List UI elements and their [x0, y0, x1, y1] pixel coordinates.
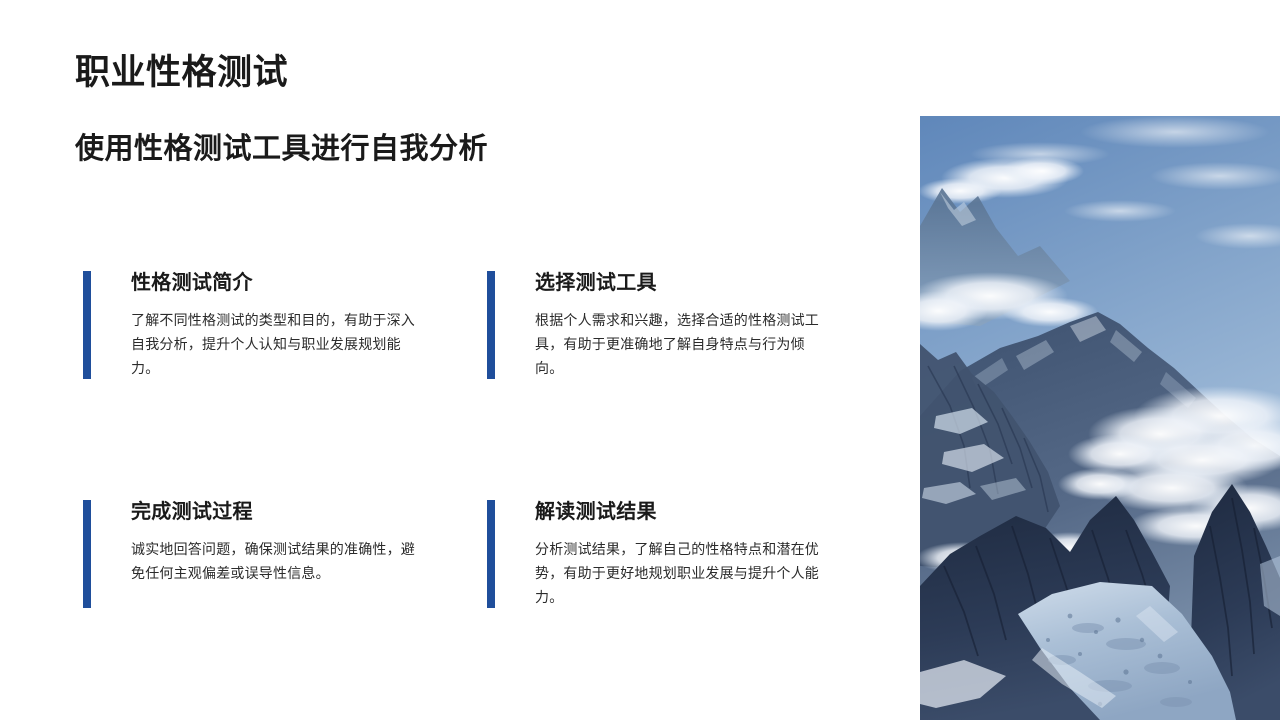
page-title: 职业性格测试 [75, 52, 288, 94]
content-card: 性格测试简介 了解不同性格测试的类型和目的，有助于深入自我分析，提升个人认知与职… [83, 271, 423, 380]
card-heading: 完成测试过程 [131, 500, 423, 524]
card-heading: 解读测试结果 [535, 500, 827, 524]
card-text: 分析测试结果，了解自己的性格特点和潜在优势，有助于更好地规划职业发展与提升个人能… [535, 537, 827, 609]
card-body: 完成测试过程 诚实地回答问题，确保测试结果的准确性，避免任何主观偏差或误导性信息… [131, 500, 423, 585]
card-body: 选择测试工具 根据个人需求和兴趣，选择合适的性格测试工具，有助于更准确地了解自身… [535, 271, 827, 380]
content-card: 完成测试过程 诚实地回答问题，确保测试结果的准确性，避免任何主观偏差或误导性信息… [83, 500, 423, 585]
accent-bar-icon [83, 271, 91, 379]
card-text: 根据个人需求和兴趣，选择合适的性格测试工具，有助于更准确地了解自身特点与行为倾向… [535, 308, 827, 380]
snow-mountain-photo [920, 116, 1280, 720]
content-card: 解读测试结果 分析测试结果，了解自己的性格特点和潜在优势，有助于更好地规划职业发… [487, 500, 827, 609]
card-text: 了解不同性格测试的类型和目的，有助于深入自我分析，提升个人认知与职业发展规划能力… [131, 308, 423, 380]
content-card: 选择测试工具 根据个人需求和兴趣，选择合适的性格测试工具，有助于更准确地了解自身… [487, 271, 827, 380]
accent-bar-icon [83, 500, 91, 608]
card-text: 诚实地回答问题，确保测试结果的准确性，避免任何主观偏差或误导性信息。 [131, 537, 423, 585]
cards-grid: 性格测试简介 了解不同性格测试的类型和目的，有助于深入自我分析，提升个人认知与职… [83, 271, 843, 611]
accent-bar-icon [487, 500, 495, 608]
page-subtitle: 使用性格测试工具进行自我分析 [75, 132, 488, 167]
accent-bar-icon [487, 271, 495, 379]
slide-root: 职业性格测试 使用性格测试工具进行自我分析 性格测试简介 了解不同性格测试的类型… [0, 0, 1280, 720]
card-heading: 性格测试简介 [131, 271, 423, 295]
card-body: 性格测试简介 了解不同性格测试的类型和目的，有助于深入自我分析，提升个人认知与职… [131, 271, 423, 380]
snow-mountain-illustration [920, 116, 1280, 720]
card-body: 解读测试结果 分析测试结果，了解自己的性格特点和潜在优势，有助于更好地规划职业发… [535, 500, 827, 609]
card-heading: 选择测试工具 [535, 271, 827, 295]
